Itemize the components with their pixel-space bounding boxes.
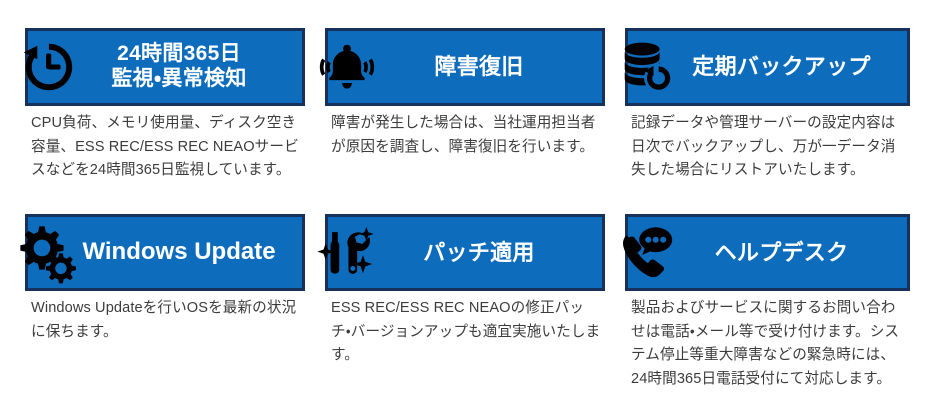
feature-card-header: 24時間365日 監視・異常検知	[25, 28, 305, 106]
feature-card-windows-update: Windows Update Windows Updateを行いOSを最新の状況…	[25, 214, 305, 291]
feature-card-description: Windows Updateを行いOSを最新の状況に保ちます。	[31, 297, 303, 344]
feature-card-title: 障害復旧	[328, 54, 602, 80]
feature-card-title: Windows Update	[28, 238, 302, 266]
feature-card-title: 定期バックアップ	[628, 54, 907, 80]
feature-card-description: ESS REC/ESS REC NEAOの修正パッチ・バージョンアップも適宜実施…	[331, 297, 603, 368]
feature-card-description: 障害が発生した場合は、当社運用担当者が原因を調査し、障害復旧を行います。	[331, 112, 603, 159]
service-features-grid: 24時間365日 監視・異常検知 CPU負荷、メモリ使用量、ディスク空き容量、E…	[0, 0, 940, 419]
feature-card-scheduled-backup: 定期バックアップ 記録データや管理サーバーの設定内容は日次でバックアップし、万が…	[625, 28, 910, 106]
feature-card-help-desk: ヘルプデスク 製品およびサービスに関するお問い合わせは電話・メール等で受け付けま…	[625, 214, 910, 291]
feature-card-title: パッチ適用	[328, 240, 602, 266]
feature-card-description: 製品およびサービスに関するお問い合わせは電話・メール等で受け付けます。システム停…	[631, 297, 909, 392]
feature-card-header: Windows Update	[25, 214, 305, 291]
feature-card-header: 障害復旧	[325, 28, 605, 106]
feature-card-patch-application: パッチ適用 ESS REC/ESS REC NEAOの修正パッチ・バージョンアッ…	[325, 214, 605, 291]
feature-card-description: 記録データや管理サーバーの設定内容は日次でバックアップし、万が一データ消失した場…	[631, 112, 909, 183]
feature-card-header: 定期バックアップ	[625, 28, 910, 106]
feature-card-header: ヘルプデスク	[625, 214, 910, 291]
feature-card-title: ヘルプデスク	[628, 240, 907, 266]
feature-card-description: CPU負荷、メモリ使用量、ディスク空き容量、ESS REC/ESS REC NE…	[31, 112, 303, 183]
feature-card-header: パッチ適用	[325, 214, 605, 291]
feature-card-fault-recovery: 障害復旧 障害が発生した場合は、当社運用担当者が原因を調査し、障害復旧を行います…	[325, 28, 605, 106]
feature-card-monitoring: 24時間365日 監視・異常検知 CPU負荷、メモリ使用量、ディスク空き容量、E…	[25, 28, 305, 106]
feature-card-title: 24時間365日 監視・異常検知	[28, 42, 302, 92]
